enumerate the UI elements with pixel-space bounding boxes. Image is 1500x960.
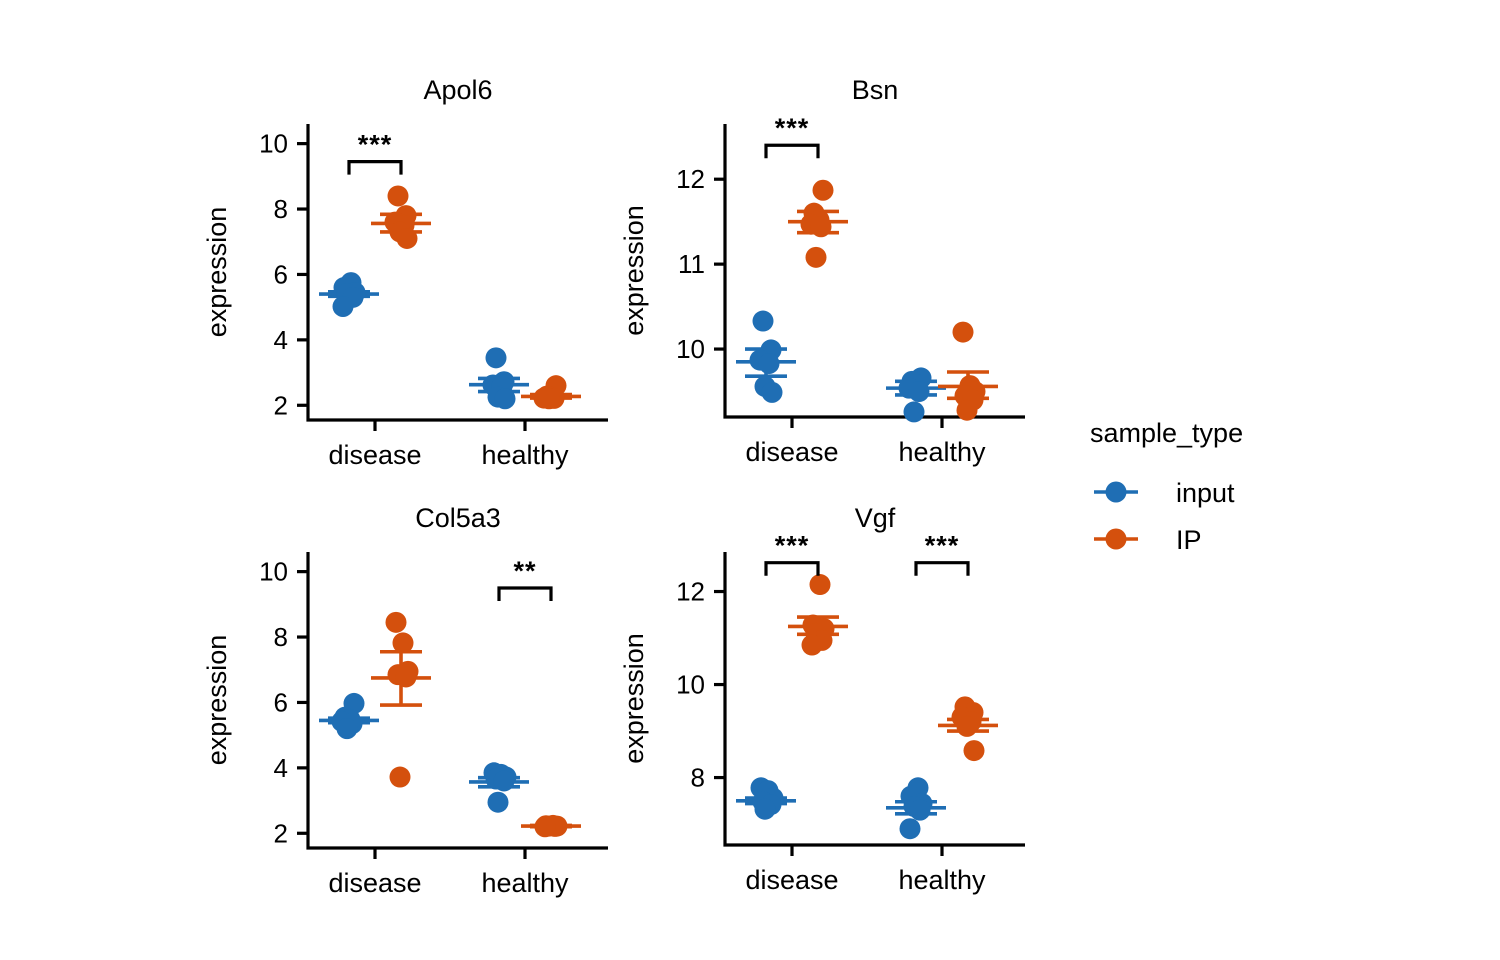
data-point xyxy=(806,247,827,268)
data-point xyxy=(753,311,774,332)
data-point xyxy=(495,388,516,409)
x-tick-label-disease: disease xyxy=(328,868,421,898)
x-tick-label-disease: disease xyxy=(745,865,838,895)
x-tick-label-healthy: healthy xyxy=(898,865,986,895)
significance-label: ** xyxy=(513,556,536,586)
y-tick-label: 8 xyxy=(691,763,705,793)
y-tick-label: 4 xyxy=(274,753,288,783)
legend-marker-dot xyxy=(1106,482,1127,503)
data-point xyxy=(909,381,930,402)
data-point xyxy=(396,666,417,687)
y-tick-label: 10 xyxy=(259,557,288,587)
data-point xyxy=(535,816,556,837)
panel-title: Vgf xyxy=(855,503,896,533)
legend-label: input xyxy=(1176,478,1235,508)
significance-label: *** xyxy=(775,531,810,561)
data-point xyxy=(813,180,834,201)
data-point xyxy=(337,718,358,739)
y-axis-label: expression xyxy=(202,207,232,338)
data-point xyxy=(386,612,407,633)
legend-label: IP xyxy=(1176,525,1202,555)
data-point xyxy=(957,716,978,737)
data-point xyxy=(802,635,823,656)
y-tick-label: 8 xyxy=(274,194,288,224)
y-tick-label: 6 xyxy=(274,259,288,289)
data-point xyxy=(486,347,507,368)
data-point xyxy=(964,740,985,761)
y-axis-label: expression xyxy=(202,635,232,766)
figure-background xyxy=(0,0,1500,960)
panel-title: Apol6 xyxy=(423,75,492,105)
y-tick-label: 2 xyxy=(274,818,288,848)
significance-label: *** xyxy=(775,113,810,143)
data-point xyxy=(810,574,831,595)
data-point xyxy=(390,767,411,788)
x-tick-label-healthy: healthy xyxy=(481,440,569,470)
x-tick-label-disease: disease xyxy=(745,437,838,467)
data-point xyxy=(904,401,925,422)
x-tick-label-healthy: healthy xyxy=(898,437,986,467)
panel-title: Bsn xyxy=(852,75,899,105)
y-axis-label: expression xyxy=(619,633,649,764)
y-tick-label: 8 xyxy=(274,622,288,652)
data-point xyxy=(762,382,783,403)
panel-title: Col5a3 xyxy=(415,503,501,533)
data-point xyxy=(333,296,354,317)
data-point xyxy=(759,353,780,374)
data-point xyxy=(388,185,409,206)
legend-title: sample_type xyxy=(1090,418,1243,448)
y-tick-label: 10 xyxy=(676,334,705,364)
y-tick-label: 11 xyxy=(678,249,705,279)
y-tick-label: 4 xyxy=(274,325,288,355)
data-point xyxy=(393,632,414,653)
data-point xyxy=(957,400,978,421)
x-tick-label-disease: disease xyxy=(328,440,421,470)
y-tick-label: 6 xyxy=(274,687,288,717)
data-point xyxy=(910,800,931,821)
y-tick-label: 10 xyxy=(259,129,288,159)
x-tick-label-healthy: healthy xyxy=(481,868,569,898)
data-point xyxy=(755,799,776,820)
figure-canvas: Apol6246810expressiondiseasehealthy***Bs… xyxy=(0,0,1500,960)
significance-label: *** xyxy=(925,531,960,561)
figure-root: Apol6246810expressiondiseasehealthy***Bs… xyxy=(0,0,1500,960)
legend-marker-dot xyxy=(1106,529,1127,550)
y-tick-label: 12 xyxy=(676,577,705,607)
y-axis-label: expression xyxy=(619,205,649,336)
significance-label: *** xyxy=(358,130,393,160)
data-point xyxy=(539,388,560,409)
data-point xyxy=(488,792,509,813)
y-tick-label: 2 xyxy=(274,390,288,420)
data-point xyxy=(811,216,832,237)
data-point xyxy=(953,322,974,343)
y-tick-label: 10 xyxy=(676,670,705,700)
data-point xyxy=(397,228,418,249)
data-point xyxy=(900,818,921,839)
data-point xyxy=(494,770,515,791)
y-tick-label: 12 xyxy=(676,164,705,194)
